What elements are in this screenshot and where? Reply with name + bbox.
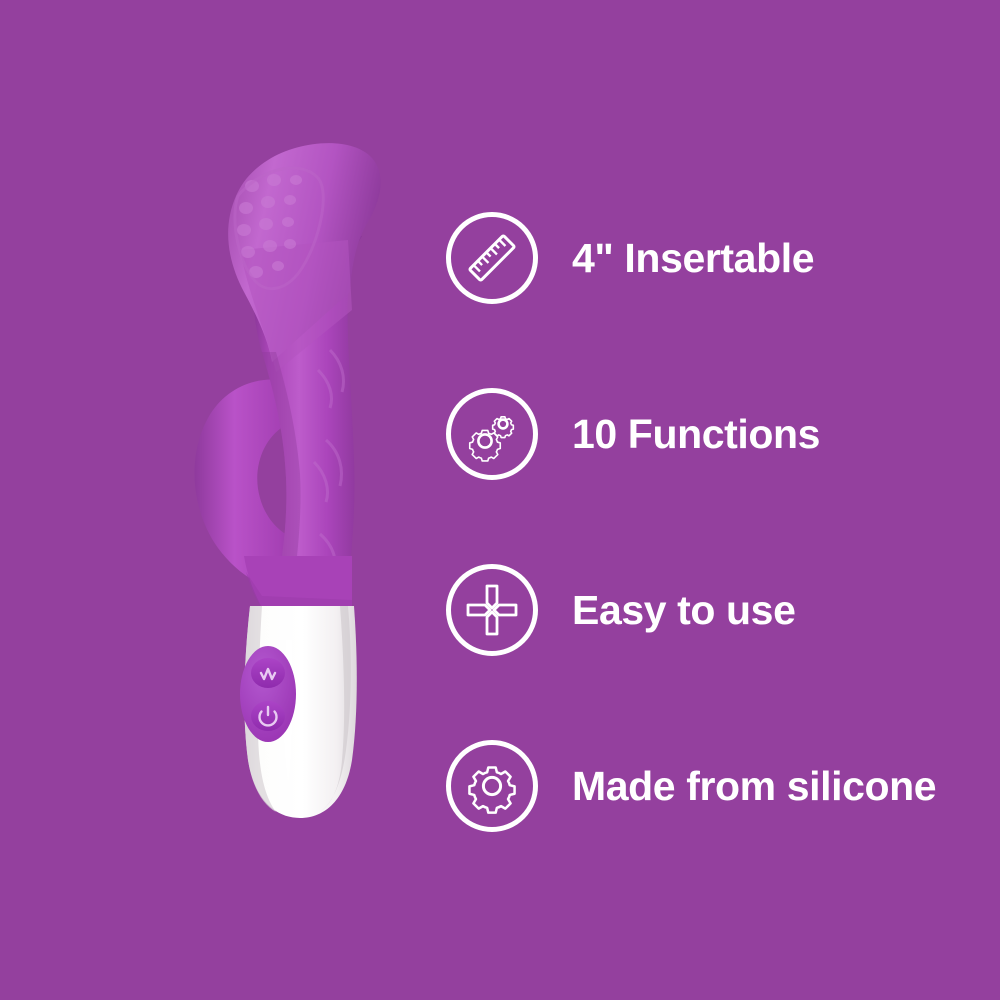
feature-list: 4" Insertable 10 Functions: [440, 170, 1000, 874]
feature-row: Made from silicone: [440, 698, 1000, 874]
product-image: [0, 0, 440, 1000]
feature-label: Easy to use: [572, 590, 795, 631]
feature-label: 4" Insertable: [572, 238, 814, 279]
feature-label: Made from silicone: [572, 766, 936, 807]
ruler-icon: [446, 212, 538, 304]
feature-label: 10 Functions: [572, 414, 820, 455]
product-power-button: [251, 701, 285, 731]
dpad-icon: [446, 564, 538, 656]
product-mode-button: [251, 658, 285, 688]
feature-row: Easy to use: [440, 522, 1000, 698]
feature-row: 10 Functions: [440, 346, 1000, 522]
gears-icon: [446, 388, 538, 480]
feature-row: 4" Insertable: [440, 170, 1000, 346]
gear-icon: [446, 740, 538, 832]
product-feature-graphic: 4" Insertable 10 Functions: [0, 0, 1000, 1000]
